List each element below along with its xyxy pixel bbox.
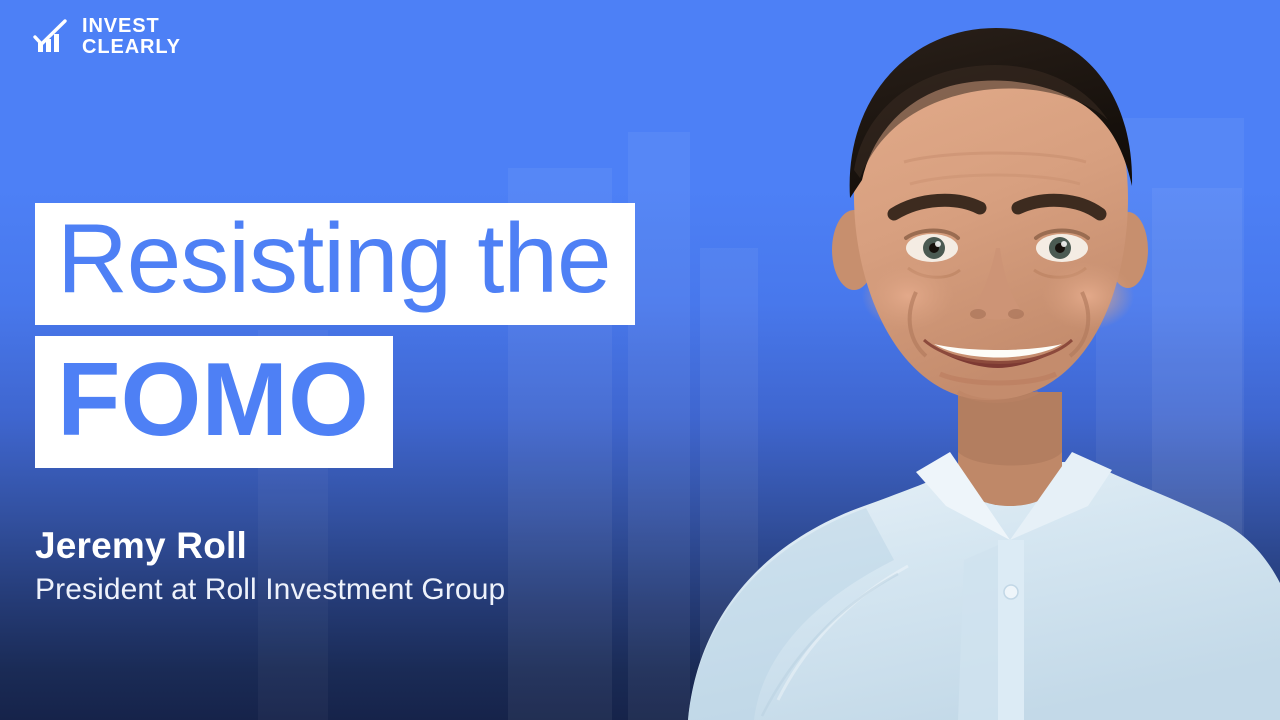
- brand-name-line-1: INVEST: [82, 16, 181, 37]
- bar-chart-growth-icon: [32, 17, 72, 57]
- headline-band-line-2: FOMO: [35, 336, 393, 468]
- promo-graphic-canvas: INVEST CLEARLY: [0, 0, 1280, 720]
- brand-wordmark: INVEST CLEARLY: [82, 16, 181, 58]
- speaker-info: Jeremy Roll President at Roll Investment…: [35, 525, 535, 608]
- speaker-role: President at Roll Investment Group: [35, 572, 535, 609]
- headline-line-2: FOMO: [57, 348, 369, 452]
- speaker-name: Jeremy Roll: [35, 525, 535, 568]
- headline-line-1: Resisting the: [57, 209, 611, 307]
- headline: Resisting the FOMO: [35, 203, 635, 468]
- speaker-portrait: [658, 0, 1280, 720]
- brand-logo[interactable]: INVEST CLEARLY: [32, 16, 181, 58]
- headline-band-line-1: Resisting the: [35, 203, 635, 325]
- brand-name-line-2: CLEARLY: [82, 37, 181, 58]
